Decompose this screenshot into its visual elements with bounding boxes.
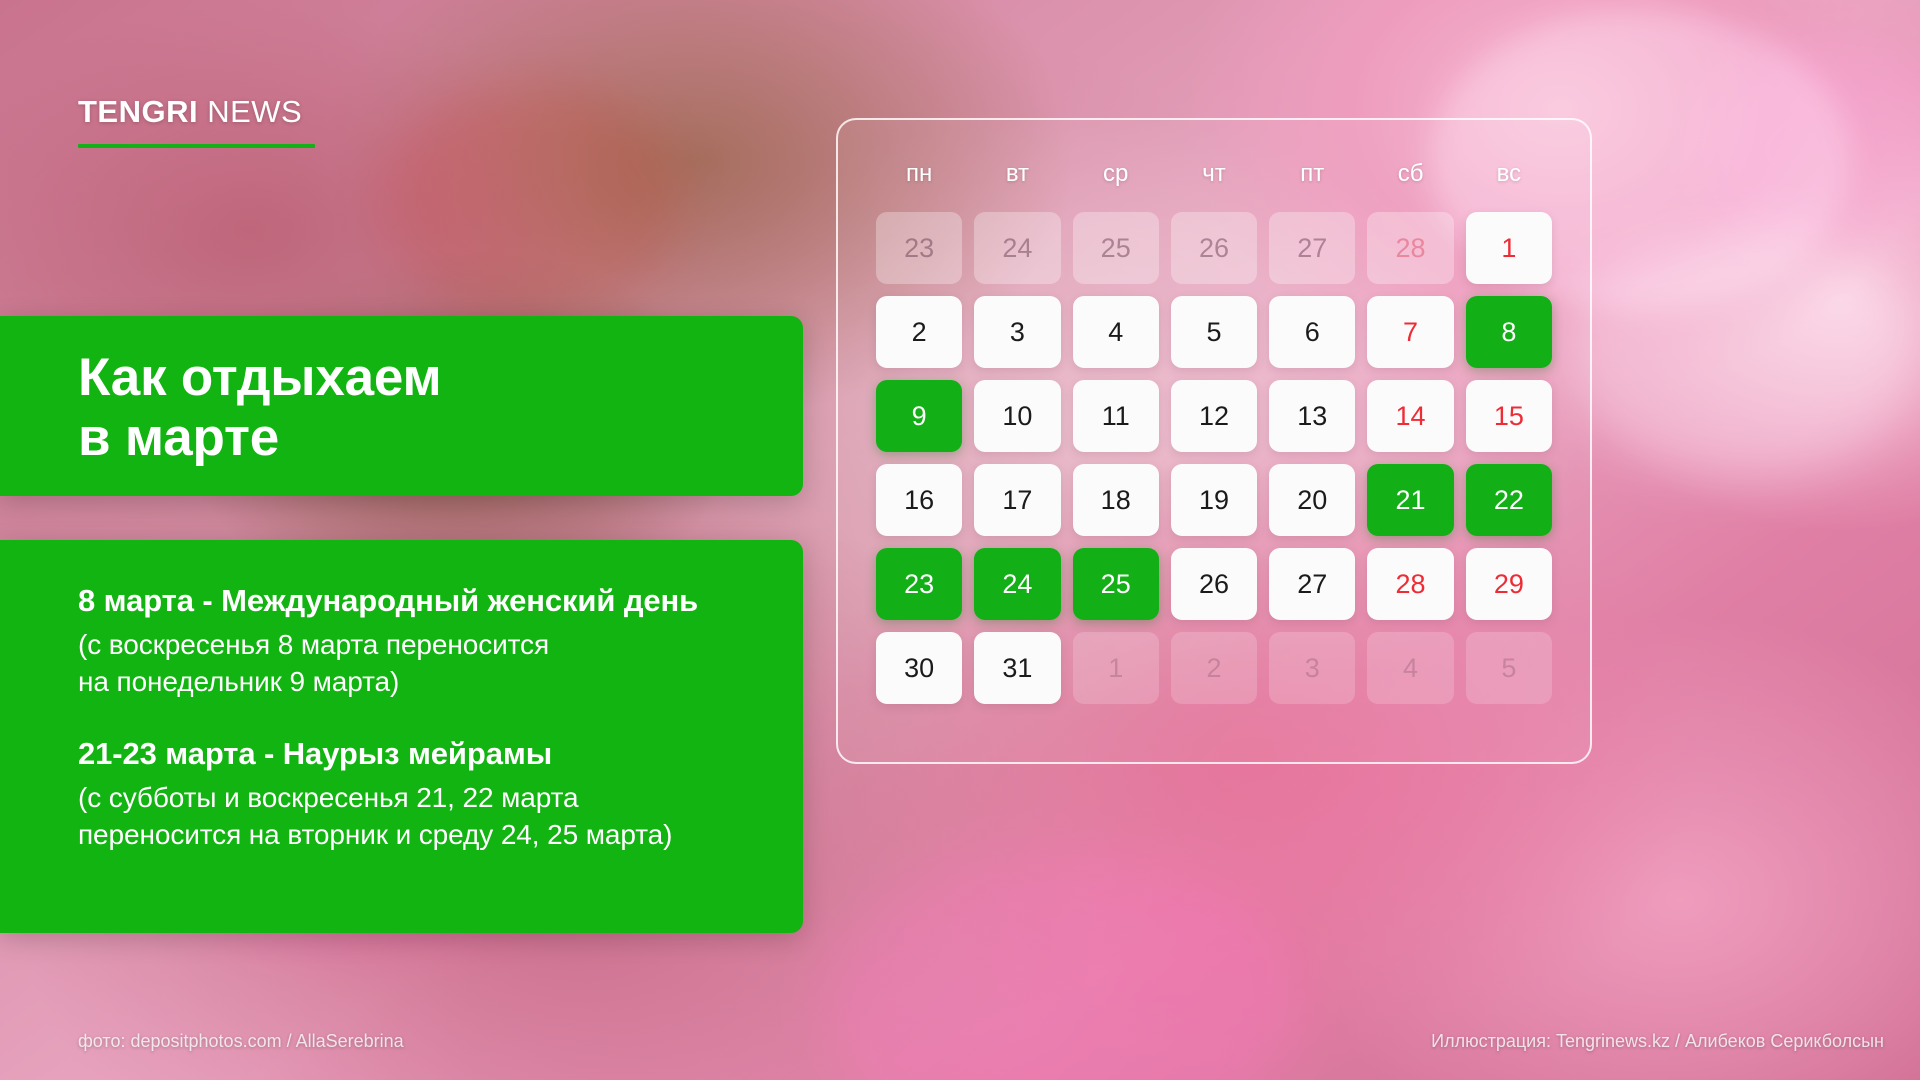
calendar-day[interactable]: 28 <box>1367 212 1453 284</box>
brand-logo-text: TENGRI NEWS <box>78 96 315 127</box>
calendar-day[interactable]: 23 <box>876 548 962 620</box>
calendar-day[interactable]: 25 <box>1073 212 1159 284</box>
holidays-list: 8 марта - Международный женский день (с … <box>0 540 803 853</box>
calendar-day[interactable]: 31 <box>974 632 1060 704</box>
calendar-day[interactable]: 2 <box>1171 632 1257 704</box>
calendar-day[interactable]: 5 <box>1466 632 1552 704</box>
calendar-day[interactable]: 3 <box>974 296 1060 368</box>
calendar-day[interactable]: 29 <box>1466 548 1552 620</box>
photo-credit: фото: depositphotos.com / AllaSerebrina <box>78 1031 404 1052</box>
calendar-day[interactable]: 10 <box>974 380 1060 452</box>
calendar-day[interactable]: 5 <box>1171 296 1257 368</box>
calendar-day[interactable]: 24 <box>974 212 1060 284</box>
calendar-day[interactable]: 27 <box>1269 212 1355 284</box>
holiday-heading: 21-23 марта - Наурыз мейрамы <box>78 735 803 772</box>
weekday-label: вс <box>1466 160 1552 188</box>
calendar-day[interactable]: 15 <box>1466 380 1552 452</box>
calendar-day[interactable]: 17 <box>974 464 1060 536</box>
holidays-panel: 8 марта - Международный женский день (с … <box>0 540 803 933</box>
brand-logo: TENGRI NEWS <box>78 96 315 148</box>
calendar-day[interactable]: 6 <box>1269 296 1355 368</box>
calendar-day[interactable]: 30 <box>876 632 962 704</box>
holiday-note-line: переносится на вторник и среду 24, 25 ма… <box>78 816 803 853</box>
holiday-note: (с субботы и воскресенья 21, 22 марта пе… <box>78 779 803 853</box>
holiday-note-line: на понедельник 9 марта) <box>78 663 803 700</box>
calendar-day[interactable]: 4 <box>1073 296 1159 368</box>
calendar-grid: 2324252627281234567891011121314151617181… <box>838 188 1590 704</box>
calendar-day[interactable]: 21 <box>1367 464 1453 536</box>
calendar-day[interactable]: 2 <box>876 296 962 368</box>
holiday-note-line: (с субботы и воскресенья 21, 22 марта <box>78 779 803 816</box>
calendar-card: пн вт ср чт пт сб вс 2324252627281234567… <box>836 118 1592 764</box>
calendar-day[interactable]: 19 <box>1171 464 1257 536</box>
illustration-credit: Иллюстрация: Tengrinews.kz / Алибеков Се… <box>1431 1031 1884 1052</box>
page-title: Как отдыхаем в марте <box>0 316 803 468</box>
calendar-day[interactable]: 13 <box>1269 380 1355 452</box>
weekday-label: пн <box>876 160 962 188</box>
calendar-day[interactable]: 1 <box>1466 212 1552 284</box>
calendar-day[interactable]: 22 <box>1466 464 1552 536</box>
title-panel: Как отдыхаем в марте <box>0 316 803 496</box>
calendar-day[interactable]: 27 <box>1269 548 1355 620</box>
calendar-day[interactable]: 23 <box>876 212 962 284</box>
calendar-day[interactable]: 12 <box>1171 380 1257 452</box>
calendar-day[interactable]: 18 <box>1073 464 1159 536</box>
page-title-line2: в марте <box>78 408 803 468</box>
calendar-day[interactable]: 26 <box>1171 548 1257 620</box>
calendar-day[interactable]: 26 <box>1171 212 1257 284</box>
calendar-day[interactable]: 7 <box>1367 296 1453 368</box>
brand-name-bold: TENGRI <box>78 94 198 129</box>
holiday-heading: 8 марта - Международный женский день <box>78 582 803 619</box>
calendar-day[interactable]: 9 <box>876 380 962 452</box>
page-title-line1: Как отдыхаем <box>78 348 803 408</box>
calendar-day[interactable]: 16 <box>876 464 962 536</box>
holiday-item: 21-23 марта - Наурыз мейрамы (с субботы … <box>78 735 803 854</box>
calendar-day[interactable]: 1 <box>1073 632 1159 704</box>
weekday-label: чт <box>1171 160 1257 188</box>
calendar-day[interactable]: 20 <box>1269 464 1355 536</box>
holiday-note-line: (с воскресенья 8 марта переносится <box>78 626 803 663</box>
brand-name-light: NEWS <box>198 94 302 129</box>
brand-underline <box>78 144 315 148</box>
calendar-day[interactable]: 25 <box>1073 548 1159 620</box>
calendar-day[interactable]: 4 <box>1367 632 1453 704</box>
weekday-label: вт <box>974 160 1060 188</box>
calendar-day[interactable]: 11 <box>1073 380 1159 452</box>
calendar-day[interactable]: 28 <box>1367 548 1453 620</box>
holiday-note: (с воскресенья 8 марта переносится на по… <box>78 626 803 700</box>
calendar-weekday-header: пн вт ср чт пт сб вс <box>838 120 1590 188</box>
holiday-item: 8 марта - Международный женский день (с … <box>78 582 803 701</box>
weekday-label: пт <box>1269 160 1355 188</box>
weekday-label: ср <box>1073 160 1159 188</box>
calendar-day[interactable]: 24 <box>974 548 1060 620</box>
calendar-day[interactable]: 3 <box>1269 632 1355 704</box>
calendar-day[interactable]: 8 <box>1466 296 1552 368</box>
calendar-day[interactable]: 14 <box>1367 380 1453 452</box>
weekday-label: сб <box>1367 160 1453 188</box>
